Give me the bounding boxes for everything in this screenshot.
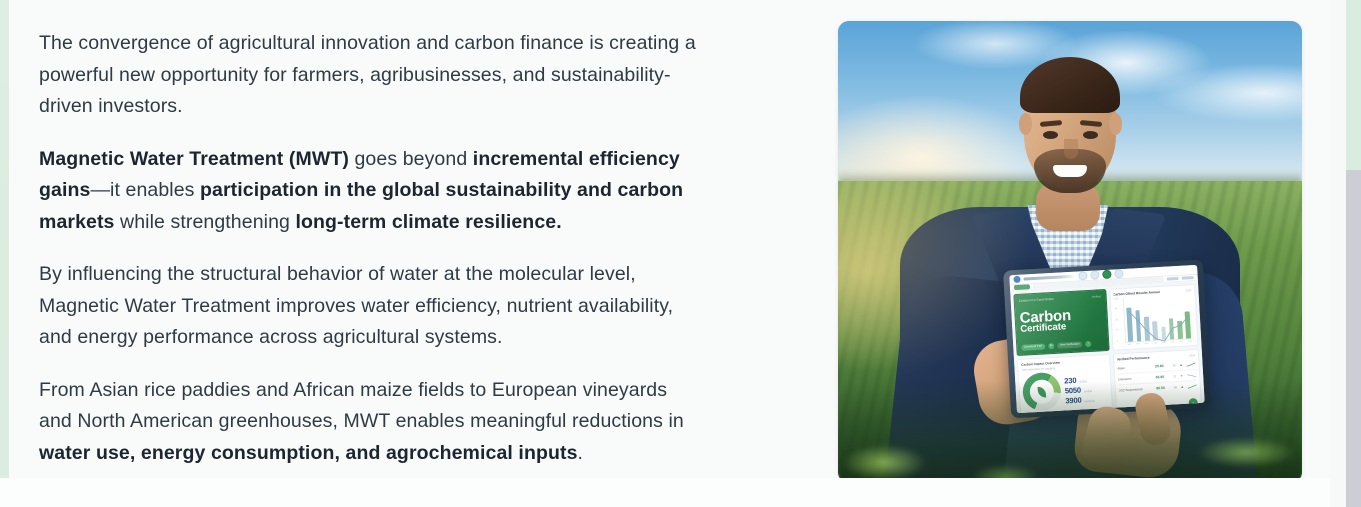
paragraph-2-run-7: long-term climate resilience.	[295, 211, 561, 233]
y-tick-2: 50	[1115, 319, 1124, 322]
paragraph-2: Magnetic Water Treatment (MWT) goes beyo…	[39, 144, 699, 239]
y-tick-3: 25	[1116, 329, 1125, 332]
chart-bar	[1135, 310, 1141, 341]
page-root: The convergence of agricultural innovati…	[0, 0, 1361, 507]
chart-x-tick: Mar	[1143, 343, 1149, 345]
chart-x-tick: Feb	[1135, 343, 1141, 345]
help-icon[interactable]	[1090, 270, 1099, 279]
table-period: 2024	[1189, 354, 1195, 357]
chart-x-tick: Aug	[1187, 340, 1193, 342]
status-icon[interactable]	[1102, 270, 1111, 279]
certificate-verified-label: Verified	[1092, 294, 1102, 299]
y-tick-1: 75	[1115, 308, 1124, 311]
farmer-eye-right	[1083, 131, 1098, 139]
chart-bar	[1169, 318, 1175, 339]
chart-bar	[1185, 311, 1191, 338]
chart-bar	[1177, 321, 1183, 339]
carbon-certificate-card[interactable]: Carbon Pro Card Online Verified Carbon C…	[1013, 289, 1109, 356]
avatar[interactable]	[1114, 269, 1123, 278]
trend-down-icon: ▼	[1179, 374, 1184, 378]
farmer-ear-left	[1019, 113, 1032, 135]
certificate-eyebrow: Carbon Pro Card Online	[1019, 297, 1055, 303]
info-icon[interactable]: i	[1085, 340, 1092, 347]
chart-x-tick: Jul	[1178, 341, 1184, 343]
paragraph-3-run-1: By influencing the structural behavior o…	[39, 263, 673, 348]
farmer-ear-right	[1109, 113, 1122, 135]
donut-title: Carbon Impact Overview	[1021, 361, 1060, 367]
table-cell-value: 20.80	[1148, 364, 1163, 369]
y-tick-4: 0	[1117, 340, 1126, 343]
certificate-id-badge[interactable]: ID	[1048, 342, 1055, 349]
bar-chart-plot: 100 75 50 25 0	[1122, 294, 1194, 343]
certificate-eyebrow-row: Carbon Pro Card Online Verified	[1019, 294, 1102, 303]
table-cell-name: Water	[1117, 365, 1146, 371]
left-accent-strip	[0, 0, 9, 478]
table-cell-change: 30	[1166, 364, 1175, 367]
view-verification-button[interactable]: View Verification	[1057, 341, 1083, 349]
paragraph-2-run-2: goes beyond	[349, 148, 473, 170]
article-text-column: The convergence of agricultural innovati…	[39, 28, 699, 469]
page-scrollbar-thumb[interactable]	[1346, 0, 1361, 170]
paragraph-4-run-3: .	[578, 442, 584, 464]
menu-chip[interactable]: Menu	[1014, 284, 1030, 290]
foreground-crops	[838, 381, 1302, 483]
trend-up-icon: ▲	[1178, 363, 1183, 367]
farmer-eye-left	[1043, 131, 1058, 139]
notifications-icon[interactable]	[1078, 271, 1087, 280]
paragraph-1: The convergence of agricultural innovati…	[39, 28, 699, 123]
y-tick-0: 100	[1114, 298, 1123, 301]
certificate-subtitle: Certificate	[1020, 320, 1103, 335]
certificate-actions: Download PDF ID View Verification i	[1021, 340, 1104, 351]
paragraph-4: From Asian rice paddies and African maiz…	[39, 375, 699, 470]
chart-x-tick: Jun	[1169, 341, 1175, 343]
table-title: Verified Performance	[1117, 356, 1150, 362]
chart-x-tick: Jan	[1126, 344, 1132, 346]
farmer-smile	[1053, 165, 1087, 177]
paragraph-2-run-4: —it enables	[90, 179, 200, 201]
paragraph-4-run-1: From Asian rice paddies and African maiz…	[39, 379, 684, 433]
brand-label: AgriCarbon Platform	[1023, 275, 1075, 281]
paragraph-1-run-1: The convergence of agricultural innovati…	[39, 32, 696, 117]
farmer-nose	[1064, 139, 1078, 159]
chart-bar	[1152, 321, 1158, 341]
chart-bars	[1123, 294, 1194, 342]
farmer-photo: AgriCarbon Platform Menu Search records …	[838, 21, 1302, 483]
download-pdf-button[interactable]: Download PDF	[1021, 343, 1045, 351]
table-cell-value: 55.65	[1149, 375, 1164, 380]
carbon-offset-chart-panel: Carbon Offset Results Annual 2024 100 75…	[1109, 284, 1199, 351]
paragraph-2-run-1: Magnetic Water Treatment (MWT)	[39, 148, 349, 170]
brand-logo-icon	[1013, 276, 1020, 283]
paragraph-3: By influencing the structural behavior o…	[39, 259, 699, 354]
content-section: The convergence of agricultural innovati…	[9, 0, 1346, 478]
donut-panel-menu-icon[interactable]: ⋯	[1103, 358, 1106, 362]
reports-link[interactable]: Reports	[1167, 277, 1179, 281]
help-link[interactable]: Help	[1182, 276, 1194, 280]
paragraph-2-run-6: while strengthening	[115, 211, 296, 233]
table-cell-change: 12	[1167, 375, 1176, 378]
sparkline-icon	[1186, 362, 1195, 367]
chart-x-tick: Apr	[1152, 342, 1158, 344]
section-bottom-strip	[0, 478, 1346, 507]
certificate-title-block: Carbon Certificate	[1019, 307, 1103, 335]
chart-bar	[1161, 327, 1166, 340]
chart-bar	[1144, 316, 1150, 340]
paragraph-4-run-2: water use, energy consumption, and agroc…	[39, 442, 578, 464]
chart-x-tick: May	[1161, 342, 1167, 344]
sparkline-icon	[1187, 373, 1196, 378]
scrollbar-gutter	[1330, 0, 1346, 507]
farmer-hair	[1020, 57, 1120, 113]
page-scrollbar-track[interactable]	[1346, 0, 1361, 507]
chart-period: 2024	[1185, 289, 1191, 292]
chart-bar	[1127, 307, 1134, 342]
